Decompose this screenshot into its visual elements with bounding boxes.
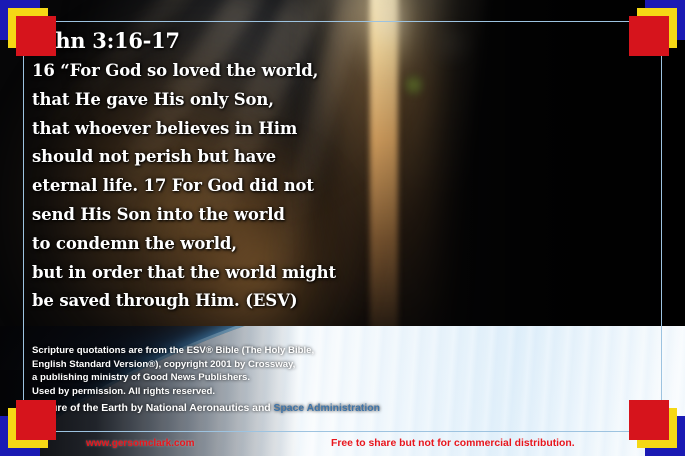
corner-decoration-top-left <box>0 0 56 56</box>
verse-line: should not perish but have <box>32 143 502 172</box>
verse-line: be saved through Him. (ESV) <box>32 287 502 316</box>
verse-line: send His Son into the world <box>32 201 502 230</box>
website-url-link[interactable]: www.gersomclark.com <box>86 438 195 449</box>
credit-line: English Standard Version®), copyright 20… <box>32 358 462 372</box>
credit-line: a publishing ministry of Good News Publi… <box>32 371 462 385</box>
credit-line: Used by permission. All rights reserved. <box>32 385 462 399</box>
corner-square-red <box>16 400 56 440</box>
photo-credit-line: Picture of the Earth by National Aeronau… <box>32 401 462 416</box>
verse-line: that He gave His only Son, <box>32 86 502 115</box>
verse-line: but in order that the world might <box>32 259 502 288</box>
corner-decoration-bottom-left <box>0 400 56 456</box>
scripture-text-block: John 3:16-17 16 “For God so loved the wo… <box>32 28 502 316</box>
corner-decoration-bottom-right <box>629 400 685 456</box>
page-title: John 3:16-17 <box>32 28 502 54</box>
verse-line: eternal life. 17 For God did not <box>32 172 502 201</box>
distribution-note: Free to share but not for commercial dis… <box>331 438 575 449</box>
credit-line: Scripture quotations are from the ESV® B… <box>32 344 462 358</box>
verse-line: 16 “For God so loved the world, <box>32 57 502 86</box>
corner-square-red <box>16 16 56 56</box>
copyright-credits: Scripture quotations are from the ESV® B… <box>32 344 462 416</box>
corner-square-red <box>629 16 669 56</box>
verse-line: to condemn the world, <box>32 230 502 259</box>
corner-square-red <box>629 400 669 440</box>
photo-credit-prefix: Picture of the Earth by National Aeronau… <box>32 403 274 414</box>
verse-body: 16 “For God so loved the world, that He … <box>32 57 502 316</box>
scripture-slide: John 3:16-17 16 “For God so loved the wo… <box>0 0 685 456</box>
verse-line: that whoever believes in Him <box>32 115 502 144</box>
corner-decoration-top-right <box>629 0 685 56</box>
nasa-link[interactable]: Space Administration <box>274 403 380 414</box>
